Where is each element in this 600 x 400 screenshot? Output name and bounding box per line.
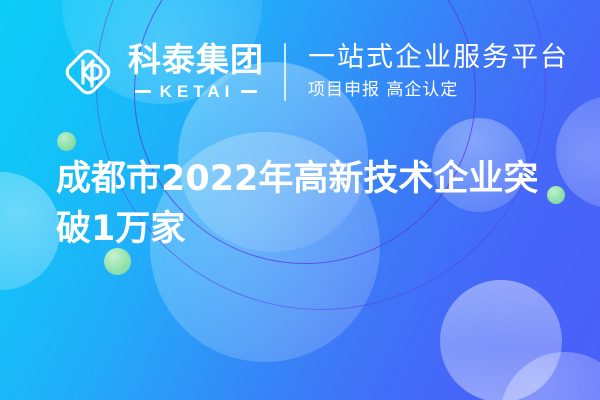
header-vertical-divider (284, 43, 286, 101)
promo-banner: 科泰集团 KETAI 一站式企业服务平台 项目申报 高企认定 成都市2022年高… (0, 0, 600, 400)
decorative-circle-bottom-right (500, 352, 600, 400)
decorative-circle-left-edge (0, 172, 60, 290)
banner-header: 科泰集团 KETAI 一站式企业服务平台 项目申报 高企认定 (58, 36, 569, 108)
ketai-diamond-kp-logo-icon (58, 42, 118, 102)
wordmark-rule-right (241, 90, 257, 93)
wordmark-rule-left (135, 90, 151, 93)
decorative-green-dot-left (57, 132, 76, 151)
brand-name-en: KETAI (160, 82, 235, 102)
brand-name-cn: 科泰集团 (128, 43, 264, 76)
banner-headline: 成都市2022年高新技术企业突破1万家 (56, 154, 566, 254)
tagline-primary: 一站式企业服务平台 (308, 43, 569, 73)
tagline-block: 一站式企业服务平台 项目申报 高企认定 (308, 43, 569, 101)
brand-wordmark: 科泰集团 KETAI (128, 43, 264, 102)
decorative-circle-right-lower (440, 280, 562, 400)
brand-name-en-row: KETAI (128, 82, 264, 102)
tagline-secondary: 项目申报 高企认定 (308, 80, 569, 100)
